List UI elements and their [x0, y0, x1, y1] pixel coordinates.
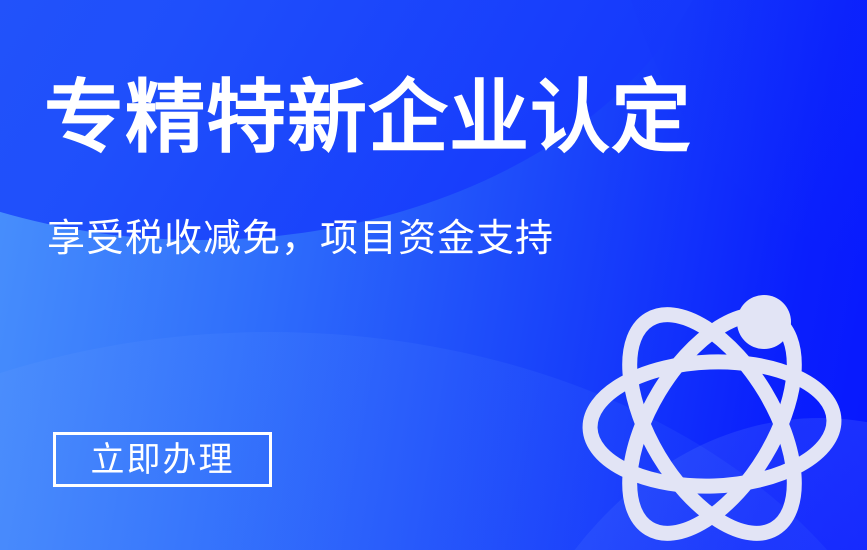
banner-content: 专精特新企业认定 享受税收减免，项目资金支持 立即办理 — [0, 0, 867, 550]
banner-title: 专精特新企业认定 — [44, 78, 692, 158]
promo-banner: 专精特新企业认定 享受税收减免，项目资金支持 立即办理 — [0, 0, 867, 550]
banner-subtitle: 享受税收减免，项目资金支持 — [47, 216, 554, 262]
apply-now-button[interactable]: 立即办理 — [53, 432, 272, 487]
